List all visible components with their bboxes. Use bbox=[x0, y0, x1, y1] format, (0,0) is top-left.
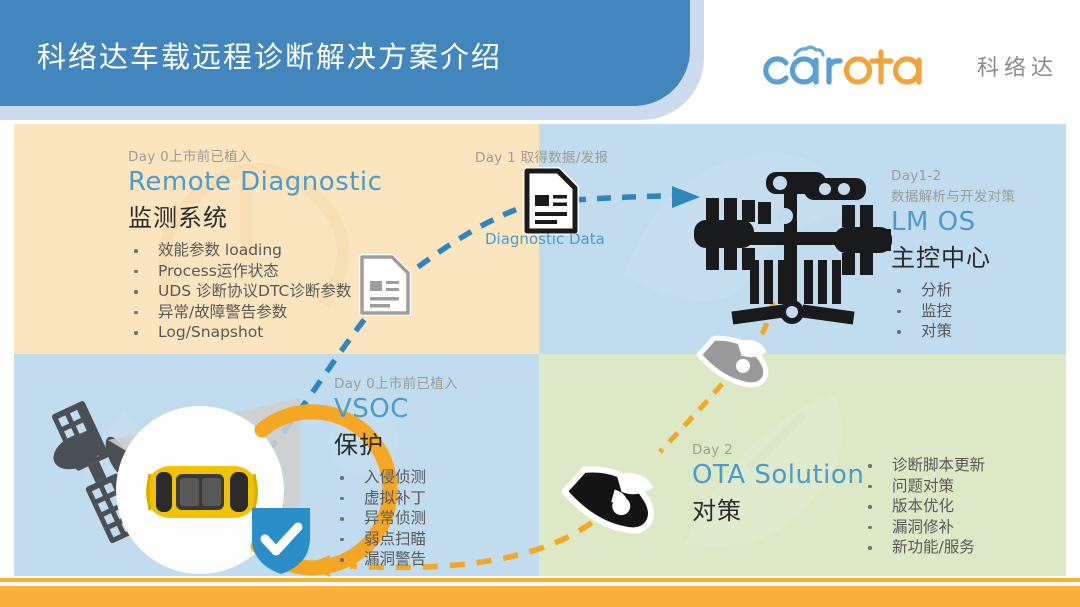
slide-canvas: 科络达车载远程诊断解决方案介绍 bbox=[0, 0, 1080, 607]
lm-en-title: LM OS bbox=[891, 207, 1015, 237]
lm-bullet-list: 分析监控对策 bbox=[891, 280, 1015, 342]
page-title: 科络达车载远程诊断解决方案介绍 bbox=[37, 34, 502, 76]
list-item: 对策 bbox=[891, 321, 1015, 342]
rd-day-label: Day 0上市前已植入 bbox=[128, 145, 382, 165]
bottom-accent-line bbox=[0, 578, 1080, 582]
list-item: 漏洞修补 bbox=[862, 517, 985, 538]
section-ota-solution: Day 2 OTA Solution 对策 bbox=[692, 442, 864, 526]
lm-day-label: Day1-2 bbox=[891, 168, 1015, 184]
list-item: 弱点扫瞄 bbox=[334, 529, 458, 550]
ota-day-label: Day 2 bbox=[692, 442, 864, 458]
list-item: 问题对策 bbox=[862, 476, 985, 497]
ota-en-title: OTA Solution bbox=[692, 460, 864, 490]
quadrant-bottom-left bbox=[14, 354, 539, 576]
diagnostic-data-label: Diagnostic Data bbox=[485, 230, 605, 248]
ota-bullets-block: 诊断脚本更新问题对策版本优化漏洞修补新功能/服务 bbox=[862, 448, 985, 558]
list-item: 分析 bbox=[891, 280, 1015, 301]
list-item: 诊断脚本更新 bbox=[862, 455, 985, 476]
section-lm-os: Day1-2 数据解析与开发对策 LM OS 主控中心 分析监控对策 bbox=[891, 168, 1015, 342]
list-item: 版本优化 bbox=[862, 496, 985, 517]
list-item: UDS 诊断协议DTC诊断参数 bbox=[128, 281, 382, 302]
section-remote-diagnostic: Day 0上市前已植入 Remote Diagnostic 监测系统 效能参数 … bbox=[128, 145, 382, 343]
list-item: Log/Snapshot bbox=[128, 322, 382, 343]
list-item: 虚拟补丁 bbox=[334, 488, 458, 509]
vsoc-bullet-list: 入侵侦测虚拟补丁异常侦测弱点扫瞄漏洞警告 bbox=[334, 467, 458, 570]
lm-day2-label: 数据解析与开发对策 bbox=[891, 185, 1015, 205]
list-item: 入侵侦测 bbox=[334, 467, 458, 488]
list-item: 监控 bbox=[891, 301, 1015, 322]
bottom-orange-bar bbox=[0, 586, 1080, 607]
section-vsoc: Day 0上市前已植入 VSOC 保护 入侵侦测虚拟补丁异常侦测弱点扫瞄漏洞警告 bbox=[334, 372, 458, 570]
logo-chinese-text: 科络达 bbox=[977, 50, 1058, 82]
diagnostic-data-day: Day 1 取得数据/发报 bbox=[475, 146, 608, 166]
list-item: 效能参数 loading bbox=[128, 240, 382, 261]
list-item: Process运作状态 bbox=[128, 261, 382, 282]
rd-en-title: Remote Diagnostic bbox=[128, 167, 382, 197]
dd-label: Diagnostic Data bbox=[485, 230, 605, 248]
rd-bullet-list: 效能参数 loadingProcess运作状态UDS 诊断协议DTC诊断参数异常… bbox=[128, 240, 382, 343]
ota-cn-title: 对策 bbox=[692, 491, 864, 526]
ota-bullet-list: 诊断脚本更新问题对策版本优化漏洞修补新功能/服务 bbox=[862, 455, 985, 558]
rd-cn-title: 监测系统 bbox=[128, 198, 382, 233]
carota-wordmark-icon bbox=[759, 46, 965, 86]
list-item: 异常/故障警告参数 bbox=[128, 302, 382, 323]
lm-cn-title: 主控中心 bbox=[891, 238, 1015, 273]
vsoc-en-title: VSOC bbox=[334, 394, 458, 424]
list-item: 漏洞警告 bbox=[334, 549, 458, 570]
carota-logo: 科络达 bbox=[759, 44, 1058, 88]
list-item: 异常侦测 bbox=[334, 508, 458, 529]
dd-day-label: Day 1 取得数据/发报 bbox=[475, 146, 608, 166]
list-item: 新功能/服务 bbox=[862, 537, 985, 558]
vsoc-cn-title: 保护 bbox=[334, 425, 458, 460]
vsoc-day-label: Day 0上市前已植入 bbox=[334, 372, 458, 392]
